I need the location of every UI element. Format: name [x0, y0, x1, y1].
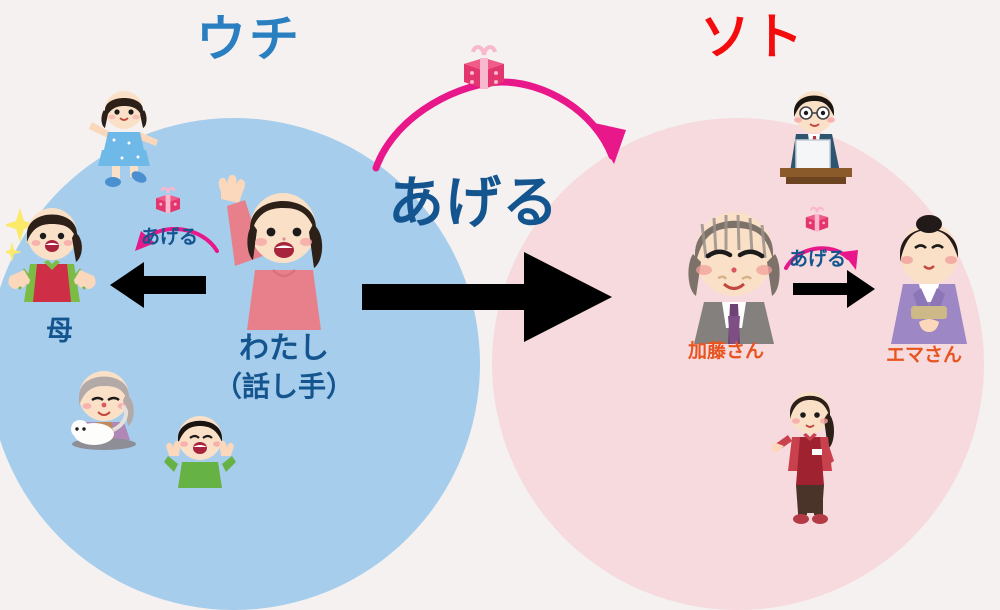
- girl-raising-hand-icon: [205, 170, 335, 330]
- soto-mini-verb-ageru: あげる: [789, 250, 846, 269]
- label-speaker: わたし （話し手）: [214, 332, 354, 402]
- label-ema: エマさん: [886, 345, 962, 366]
- grandmother-with-cat-icon: [60, 366, 148, 450]
- center-verb-ageru: あげる: [388, 176, 559, 232]
- uchi-mini-verb-ageru: あげる: [141, 228, 198, 247]
- shop-clerk-woman-icon: [770, 385, 850, 527]
- arrow-kato-to-ema: [793, 270, 875, 308]
- label-speaker-main: わたし: [239, 331, 329, 366]
- jumping-girl-icon: [84, 88, 164, 188]
- man-at-podium-icon: [770, 86, 862, 184]
- boy-cheering-icon: [162, 412, 238, 488]
- soto-heading: ソト: [700, 12, 806, 62]
- label-mother: 母: [46, 317, 73, 347]
- arrow-uchi-to-soto: [362, 250, 612, 344]
- gift-box-icon: [803, 205, 831, 233]
- woman-in-kimono-icon: [885, 202, 973, 344]
- uchi-heading: ウチ: [196, 14, 302, 64]
- gift-box-icon: [153, 185, 183, 215]
- woman-in-apron-icon: [4, 198, 100, 320]
- gift-box-icon: [459, 42, 509, 92]
- label-speaker-sub: （話し手）: [214, 371, 354, 402]
- older-businessman-icon: [680, 198, 788, 344]
- arrow-speaker-to-mother: [110, 258, 206, 312]
- label-kato: 加藤さん: [688, 341, 764, 362]
- diagram-canvas: ウチ ソト: [0, 0, 1000, 562]
